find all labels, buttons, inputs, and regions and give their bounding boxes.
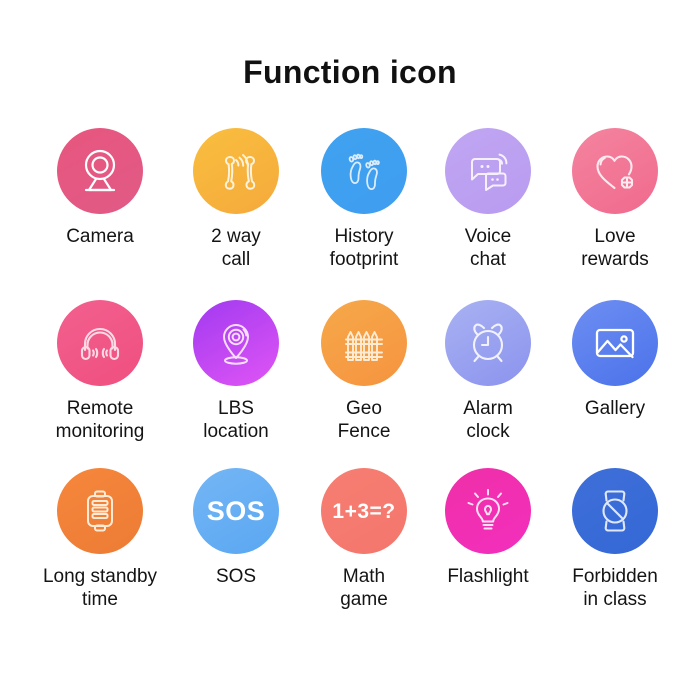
math-equation-icon: 1+3=? xyxy=(332,501,395,522)
lightbulb-icon-badge[interactable] xyxy=(445,468,531,554)
grid-item-long-standby-time[interactable]: Long standby time xyxy=(28,468,172,611)
grid-item-label: Camera xyxy=(66,225,134,248)
sos-text-icon: SOS xyxy=(207,498,266,525)
camera-icon-badge[interactable] xyxy=(57,128,143,214)
grid-item-label: Alarm clock xyxy=(463,397,513,443)
icon-grid-row: Remote monitoring xyxy=(0,300,700,468)
grid-item-camera[interactable]: Camera xyxy=(28,128,172,248)
alarm-clock-icon-badge[interactable] xyxy=(445,300,531,386)
grid-item-label: Voice chat xyxy=(465,225,511,271)
grid-item-alarm-clock[interactable]: Alarm clock xyxy=(428,300,548,443)
grid-item-label: Forbidden in class xyxy=(572,565,658,611)
headphones-icon-badge[interactable] xyxy=(57,300,143,386)
heart-plus-icon-badge[interactable] xyxy=(572,128,658,214)
icon-grid-row: Camera xyxy=(0,128,700,300)
grid-item-label: Long standby time xyxy=(43,565,157,611)
grid-item-love-rewards[interactable]: Love rewards xyxy=(548,128,682,271)
two-handsets-icon xyxy=(210,145,262,197)
grid-item-label: Math game xyxy=(340,565,388,611)
grid-item-label: SOS xyxy=(216,565,256,588)
battery-icon xyxy=(74,485,126,537)
math-equation-icon-badge[interactable]: 1+3=? xyxy=(321,468,407,554)
grid-item-forbidden-in-class[interactable]: Forbidden in class xyxy=(548,468,682,611)
picture-icon xyxy=(589,317,641,369)
grid-item-history-footprint[interactable]: History footprint xyxy=(300,128,428,271)
grid-item-sos[interactable]: SOS SOS xyxy=(172,468,300,588)
grid-item-label: LBS location xyxy=(203,397,269,443)
footprints-icon xyxy=(338,145,390,197)
grid-item-gallery[interactable]: Gallery xyxy=(548,300,682,420)
grid-item-label: Flashlight xyxy=(447,565,528,588)
lightbulb-icon xyxy=(462,485,514,537)
icon-grid-row: Long standby time SOS SOS 1+3=? Math gam… xyxy=(0,468,700,636)
page-title: Function icon xyxy=(0,54,700,91)
two-handsets-icon-badge[interactable] xyxy=(193,128,279,214)
footprints-icon-badge[interactable] xyxy=(321,128,407,214)
camera-icon xyxy=(74,145,126,197)
grid-item-math-game[interactable]: 1+3=? Math game xyxy=(300,468,428,611)
location-pin-icon xyxy=(210,317,262,369)
grid-item-flashlight[interactable]: Flashlight xyxy=(428,468,548,588)
grid-item-label: Love rewards xyxy=(581,225,649,271)
function-icon-poster: Function icon Camera xyxy=(0,0,700,700)
grid-item-label: Remote monitoring xyxy=(56,397,145,443)
grid-item-voice-chat[interactable]: Voice chat xyxy=(428,128,548,271)
grid-item-geo-fence[interactable]: Geo Fence xyxy=(300,300,428,443)
fence-icon xyxy=(338,317,390,369)
location-pin-icon-badge[interactable] xyxy=(193,300,279,386)
speech-bubbles-wifi-icon-badge[interactable] xyxy=(445,128,531,214)
grid-item-label: Geo Fence xyxy=(338,397,391,443)
speech-bubbles-wifi-icon xyxy=(462,145,514,197)
grid-item-lbs-location[interactable]: LBS location xyxy=(172,300,300,443)
grid-item-remote-monitoring[interactable]: Remote monitoring xyxy=(28,300,172,443)
grid-item-label: Gallery xyxy=(585,397,645,420)
fence-icon-badge[interactable] xyxy=(321,300,407,386)
battery-icon-badge[interactable] xyxy=(57,468,143,554)
heart-plus-icon xyxy=(589,145,641,197)
watch-forbidden-icon-badge[interactable] xyxy=(572,468,658,554)
picture-icon-badge[interactable] xyxy=(572,300,658,386)
alarm-clock-icon xyxy=(462,317,514,369)
grid-item-label: History footprint xyxy=(330,225,399,271)
icon-grid: Camera xyxy=(0,128,700,636)
grid-item-two-way-call[interactable]: 2 way call xyxy=(172,128,300,271)
grid-item-label: 2 way call xyxy=(211,225,261,271)
sos-text-icon-badge[interactable]: SOS xyxy=(193,468,279,554)
watch-forbidden-icon xyxy=(589,485,641,537)
headphones-icon xyxy=(74,317,126,369)
